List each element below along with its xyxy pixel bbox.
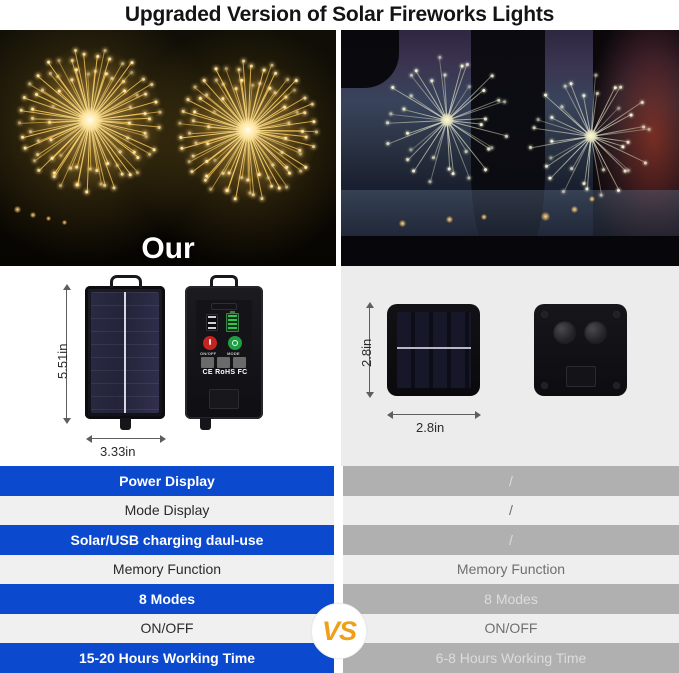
our-battery-cap bbox=[230, 311, 235, 313]
our-width-dim-line bbox=[92, 438, 160, 439]
background-light bbox=[481, 214, 487, 220]
feature-row-ours: ON/OFF bbox=[0, 614, 334, 644]
firework-burst bbox=[18, 48, 162, 192]
horizon-band bbox=[341, 190, 679, 242]
others-width-arrow-right bbox=[475, 411, 481, 419]
others-screw-tl bbox=[541, 311, 548, 318]
feature-row-others: / bbox=[343, 496, 679, 526]
burst-ray bbox=[413, 120, 447, 171]
our-control-connector bbox=[200, 418, 211, 430]
feature-row-ours: 8 Modes bbox=[0, 584, 334, 614]
spec-comparison-row: ON/OFF MODE CE RoHS FC 5.51in 3.33in bbox=[0, 266, 679, 466]
background-light bbox=[30, 212, 36, 218]
others-button-1[interactable] bbox=[553, 321, 577, 345]
our-button-label-mode: MODE bbox=[227, 351, 240, 356]
others-spec-panel: 2.8in 2.8in bbox=[341, 266, 679, 466]
our-certification-marks: CE RoHS FC bbox=[200, 369, 250, 376]
our-product-photo: Our bbox=[0, 30, 336, 266]
feature-row-ours: Memory Function bbox=[0, 555, 334, 585]
product-comparison-infographic: Upgraded Version of Solar Fireworks Ligh… bbox=[0, 0, 679, 673]
feature-row-others: 6-8 Hours Working Time bbox=[343, 643, 679, 673]
others-height-arrow-bottom bbox=[366, 392, 374, 398]
others-solar-cells bbox=[397, 312, 471, 388]
our-spec-panel: ON/OFF MODE CE RoHS FC 5.51in 3.33in bbox=[0, 266, 336, 466]
ground-silhouette bbox=[341, 236, 679, 266]
background-light bbox=[571, 206, 578, 213]
firework-burst bbox=[529, 74, 653, 198]
our-width-arrow-left bbox=[86, 435, 92, 443]
our-icon-box-1 bbox=[201, 357, 214, 368]
our-panel-connector bbox=[120, 418, 131, 430]
feature-row-others: Memory Function bbox=[343, 555, 679, 585]
vs-badge: VS bbox=[311, 603, 367, 659]
burst-ray bbox=[430, 120, 448, 182]
our-battery-indicator bbox=[226, 313, 239, 332]
others-height-label: 2.8in bbox=[359, 339, 374, 367]
page-title-bar: Upgraded Version of Solar Fireworks Ligh… bbox=[0, 0, 679, 30]
our-photo-caption: Our bbox=[0, 234, 336, 264]
feature-row-ours: 15-20 Hours Working Time bbox=[0, 643, 334, 673]
others-button-2[interactable] bbox=[584, 321, 608, 345]
others-screw-bl bbox=[541, 382, 548, 389]
feature-row-ours: Power Display bbox=[0, 466, 334, 496]
our-control-vent bbox=[211, 303, 237, 310]
burst-core bbox=[235, 117, 261, 143]
feature-row-others: / bbox=[343, 466, 679, 496]
our-digit-seg-a bbox=[208, 316, 216, 318]
our-height-arrow-bottom bbox=[63, 418, 71, 424]
feature-row-others: 8 Modes bbox=[343, 584, 679, 614]
others-mount-slot bbox=[566, 366, 596, 387]
background-light bbox=[62, 220, 67, 225]
others-product-photo: Others bbox=[341, 30, 679, 266]
firework-burst bbox=[178, 60, 318, 200]
burst-core bbox=[584, 129, 598, 143]
feature-row-ours: Solar/USB charging daul-use bbox=[0, 525, 334, 555]
feature-row-ours: Mode Display bbox=[0, 496, 334, 526]
others-width-dim-line bbox=[393, 414, 475, 415]
page-title: Upgraded Version of Solar Fireworks Ligh… bbox=[125, 3, 554, 27]
background-light bbox=[446, 216, 453, 223]
background-light bbox=[541, 212, 550, 221]
photo-comparison-row: Our Others bbox=[0, 30, 679, 266]
our-icon-box-3 bbox=[233, 357, 246, 368]
others-screw-tr bbox=[613, 311, 620, 318]
our-button-label-onoff: ON/OFF bbox=[200, 351, 216, 356]
our-width-label: 3.33in bbox=[100, 444, 135, 459]
our-panel-handle bbox=[110, 275, 142, 288]
background-light bbox=[589, 196, 595, 202]
burst-core bbox=[440, 113, 454, 127]
background-light bbox=[399, 220, 406, 227]
our-icon-box-2 bbox=[217, 357, 230, 368]
our-digit-seg-g bbox=[208, 322, 216, 324]
feature-row-others: ON/OFF bbox=[343, 614, 679, 644]
our-digit-seg-d bbox=[208, 327, 216, 329]
others-height-arrow-top bbox=[366, 302, 374, 308]
vs-label: VS bbox=[322, 616, 356, 647]
others-width-arrow-left bbox=[387, 411, 393, 419]
firework-burst bbox=[383, 56, 511, 184]
our-width-arrow-right bbox=[160, 435, 166, 443]
background-light bbox=[14, 206, 21, 213]
others-screw-br bbox=[613, 382, 620, 389]
burst-core bbox=[77, 107, 103, 133]
our-height-arrow-top bbox=[63, 284, 71, 290]
our-control-bottom-pad bbox=[209, 389, 239, 409]
background-light bbox=[46, 216, 51, 221]
others-solar-busbar bbox=[397, 347, 471, 349]
mode-icon bbox=[232, 340, 238, 346]
feature-row-others: / bbox=[343, 525, 679, 555]
our-solar-busbar bbox=[124, 292, 126, 413]
others-width-label: 2.8in bbox=[416, 420, 444, 435]
our-control-unit-handle bbox=[210, 275, 238, 287]
our-height-label: 5.51in bbox=[55, 344, 70, 379]
power-icon bbox=[209, 339, 211, 345]
